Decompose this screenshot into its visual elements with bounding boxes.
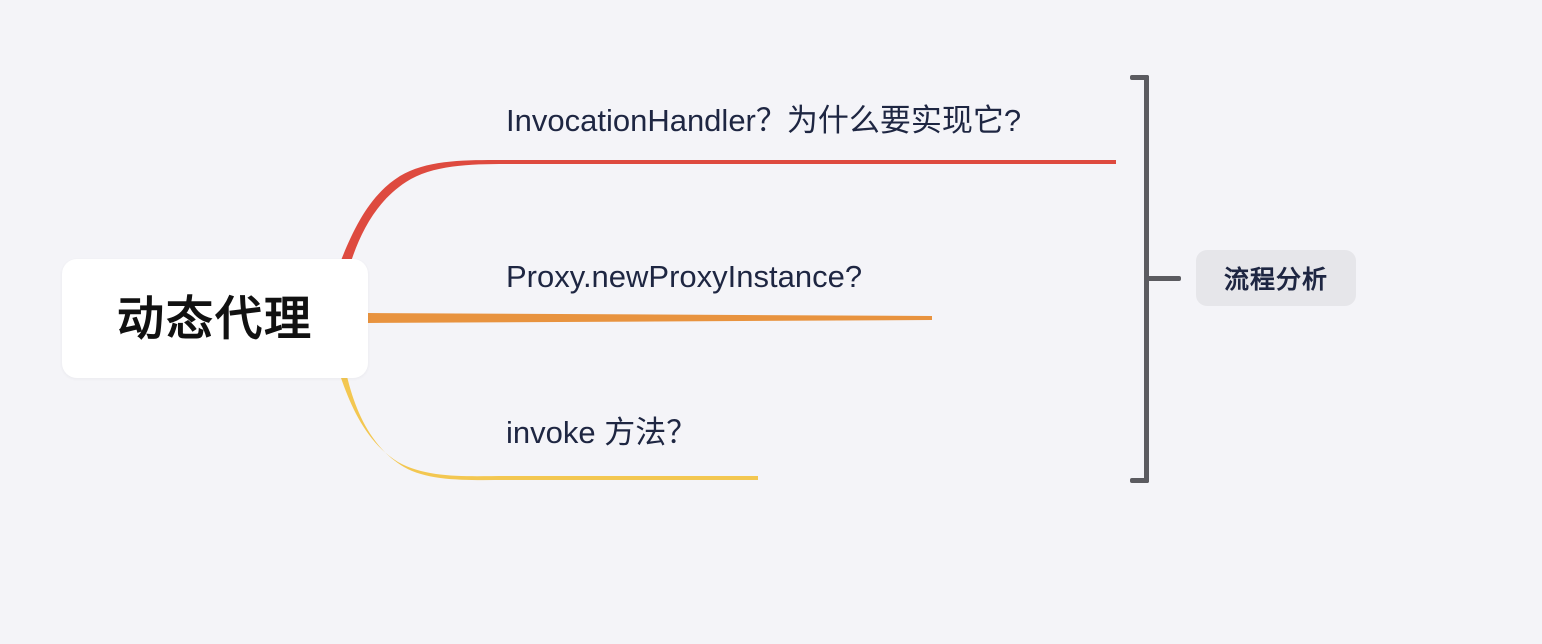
bracket-top-arm — [1130, 75, 1149, 80]
root-node-label: 动态代理 — [117, 295, 313, 342]
root-node[interactable]: 动态代理 — [62, 259, 368, 378]
branch-label-new-proxy-instance[interactable]: Proxy.newProxyInstance? — [506, 258, 862, 295]
bracket-connector-tick — [1146, 276, 1181, 281]
summary-pill[interactable]: 流程分析 — [1196, 250, 1356, 306]
branch-connector-orange — [368, 313, 932, 323]
mindmap-canvas: 动态代理 InvocationHandler？为什么要实现它? Proxy.ne… — [0, 0, 1542, 644]
summary-bracket — [1130, 70, 1190, 490]
branch-label-invoke-method[interactable]: invoke 方法？ — [506, 414, 697, 451]
branch-label-invocation-handler[interactable]: InvocationHandler？为什么要实现它? — [506, 102, 1021, 139]
summary-pill-label: 流程分析 — [1224, 260, 1328, 296]
bracket-bottom-arm — [1130, 478, 1149, 483]
